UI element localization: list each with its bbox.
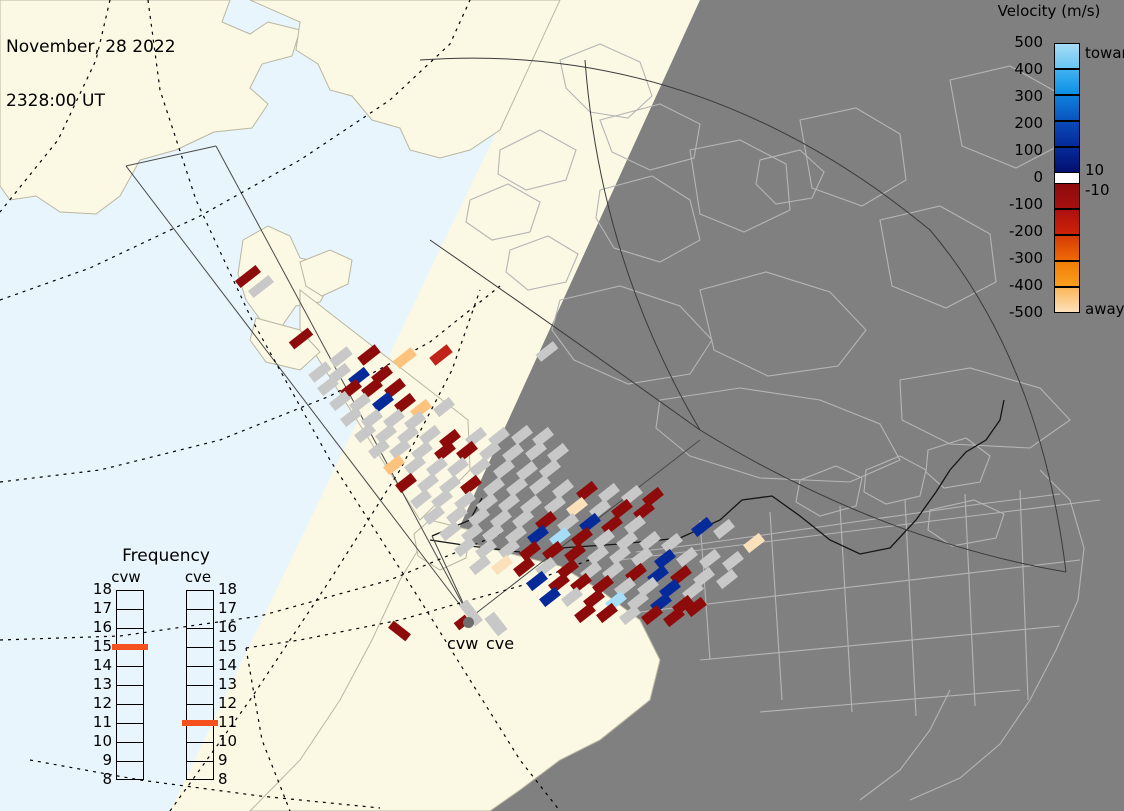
velocity-cell <box>454 491 476 511</box>
frequency-cell <box>187 648 213 667</box>
frequency-tick-cvw-17: 17 <box>88 599 112 617</box>
velocity-cell <box>557 513 579 533</box>
velocity-cell <box>439 521 461 541</box>
velocity-cell <box>388 621 411 642</box>
colorbar-tick-400: 400 <box>981 60 1043 78</box>
velocity-cell <box>691 517 713 537</box>
frequency-tick-cve-18: 18 <box>218 580 242 598</box>
frequency-cell <box>187 629 213 648</box>
colorbar-cell--500--400 <box>1054 287 1080 313</box>
velocity-cell <box>419 425 441 445</box>
velocity-cell <box>389 439 411 459</box>
frequency-tick-cve-17: 17 <box>218 599 242 617</box>
frequency-cell <box>117 724 143 743</box>
velocity-cell <box>536 341 559 362</box>
colorbar-cell-10-100 <box>1054 147 1080 173</box>
frequency-cell <box>187 762 213 781</box>
velocity-cell <box>475 539 497 559</box>
superdarn-map-figure: November, 28 2022 2328:00 UT Velocity (m… <box>0 0 1124 811</box>
frequency-tick-cve-8: 8 <box>218 770 242 788</box>
velocity-cell <box>417 473 439 493</box>
velocity-cell <box>482 523 504 543</box>
frequency-cell <box>117 762 143 781</box>
velocity-cell <box>502 443 524 463</box>
velocity-cell <box>506 477 528 497</box>
velocity-cell <box>329 346 352 367</box>
colorbar-cell-100-200 <box>1054 121 1080 147</box>
frequency-tick-cve-11: 11 <box>218 713 242 731</box>
velocity-cell <box>654 549 676 569</box>
frequency-cell <box>117 610 143 629</box>
frequency-cell <box>187 610 213 629</box>
frequency-tick-cve-13: 13 <box>218 675 242 693</box>
frequency-tick-cve-9: 9 <box>218 751 242 769</box>
colorbar-tick-500: 500 <box>981 33 1043 51</box>
velocity-cell <box>490 509 512 529</box>
velocity-cell <box>484 612 507 637</box>
velocity-cell <box>513 557 535 577</box>
frequency-title: Frequency <box>86 546 246 566</box>
colorbar-tick-200: 200 <box>981 114 1043 132</box>
frequency-marker-cvw <box>112 644 148 650</box>
frequency-cell <box>117 743 143 762</box>
colorbar-zero-gap <box>1054 173 1080 183</box>
velocity-cell <box>593 529 615 549</box>
velocity-cell <box>587 545 609 565</box>
velocity-cell <box>512 509 534 529</box>
velocity-cell <box>426 457 448 477</box>
velocity-cell <box>491 555 513 575</box>
colorbar-cell-400-500 <box>1054 43 1080 69</box>
colorbar-title: Velocity (m/s) <box>979 2 1119 20</box>
frequency-cell <box>117 686 143 705</box>
velocity-cell <box>713 519 735 539</box>
radar-site-label-cvw: cvw <box>447 634 478 653</box>
frequency-scale-box-cvw <box>116 590 144 780</box>
frequency-cell <box>117 667 143 686</box>
velocity-cell <box>676 547 698 567</box>
frequency-tick-cvw-16: 16 <box>88 618 112 636</box>
velocity-cell <box>433 397 455 417</box>
frequency-tick-cvw-12: 12 <box>88 694 112 712</box>
velocity-cell <box>375 424 397 444</box>
velocity-cell <box>395 473 417 493</box>
radar-site-label-cve: cve <box>486 634 514 653</box>
colorbar-tick-0: 0 <box>981 168 1043 186</box>
velocity-cell <box>498 493 520 513</box>
frequency-tick-cve-10: 10 <box>218 732 242 750</box>
velocity-cell <box>519 541 541 561</box>
colorbar-gradient <box>1054 43 1080 313</box>
velocity-cell <box>469 555 491 575</box>
velocity-cell <box>601 515 623 535</box>
frequency-cell <box>187 724 213 743</box>
velocity-cell <box>460 475 482 495</box>
frequency-cell <box>117 591 143 610</box>
frequency-cell <box>117 705 143 724</box>
velocity-cell <box>619 605 641 625</box>
velocity-cell <box>529 475 551 495</box>
velocity-cell <box>447 457 469 477</box>
time-label: 2328:00 UT <box>6 92 176 110</box>
velocity-cell <box>383 455 405 475</box>
colorbar-cell--200--100 <box>1054 209 1080 235</box>
velocity-cell <box>439 475 461 495</box>
frequency-tick-cvw-8: 8 <box>88 770 112 788</box>
frequency-panel: Frequency cvw cve 1817161514131211109818… <box>86 546 246 791</box>
velocity-cell <box>576 481 598 501</box>
colorbar-cell--300--200 <box>1054 235 1080 261</box>
frequency-tick-cve-14: 14 <box>218 656 242 674</box>
velocity-cell <box>511 425 533 445</box>
velocity-cell <box>539 459 561 479</box>
colorbar-cell-200-300 <box>1054 95 1080 121</box>
colorbar-tick--500: -500 <box>981 303 1043 321</box>
frequency-cell <box>187 591 213 610</box>
frequency-tick-cvw-9: 9 <box>88 751 112 769</box>
velocity-cell <box>423 505 445 525</box>
velocity-cell <box>476 493 498 513</box>
velocity-cell <box>699 549 721 569</box>
velocity-cell <box>368 439 390 459</box>
frequency-tick-cvw-14: 14 <box>88 656 112 674</box>
velocity-cell <box>469 457 491 477</box>
colorbar-cell-300-400 <box>1054 69 1080 95</box>
colorbar-tick--400: -400 <box>981 276 1043 294</box>
frequency-tick-cve-16: 16 <box>218 618 242 636</box>
velocity-colorbar-panel: Velocity (m/s) 5004003002001000-100-200-… <box>975 0 1124 340</box>
frequency-marker-cve <box>182 720 218 726</box>
velocity-cell <box>544 495 566 515</box>
frequency-cell <box>187 686 213 705</box>
velocity-cell <box>547 443 569 463</box>
colorbar-tick-300: 300 <box>981 87 1043 105</box>
radar-site-marker <box>463 617 474 628</box>
frequency-scale-box-cve <box>186 590 214 780</box>
velocity-cell <box>429 344 452 365</box>
velocity-cell <box>566 497 588 517</box>
colorbar-cell--400--300 <box>1054 261 1080 287</box>
velocity-cell <box>446 505 468 525</box>
colorbar-tick--100: -100 <box>981 195 1043 213</box>
colorbar-negative-threshold-label: -10 <box>1085 181 1110 199</box>
velocity-cell <box>483 477 505 497</box>
velocity-cell <box>431 489 453 509</box>
velocity-cell <box>639 531 661 551</box>
velocity-cell <box>289 328 313 350</box>
velocity-cell <box>520 495 542 515</box>
velocity-cell <box>631 547 653 567</box>
velocity-cell <box>716 569 738 589</box>
colorbar-tick--200: -200 <box>981 222 1043 240</box>
velocity-cell <box>516 461 538 481</box>
frequency-tick-cvw-13: 13 <box>88 675 112 693</box>
velocity-cell <box>410 489 432 509</box>
velocity-cell <box>598 483 620 503</box>
frequency-cell <box>187 667 213 686</box>
velocity-cell <box>393 347 416 368</box>
velocity-cell <box>743 533 765 553</box>
colorbar-positive-threshold-label: 10 <box>1085 161 1104 179</box>
velocity-cell <box>468 507 490 527</box>
frequency-cell <box>117 648 143 667</box>
colorbar-toward-label: toward <box>1085 44 1124 62</box>
frequency-tick-cvw-18: 18 <box>88 580 112 598</box>
velocity-cell <box>722 551 744 571</box>
colorbar-tick--300: -300 <box>981 249 1043 267</box>
frequency-tick-cve-15: 15 <box>218 637 242 655</box>
velocity-cell <box>571 527 593 547</box>
velocity-cell <box>357 344 380 365</box>
velocity-cell <box>527 525 549 545</box>
velocity-cell <box>564 543 586 563</box>
frequency-cell <box>187 743 213 762</box>
date-label: November, 28 2022 <box>6 38 176 56</box>
colorbar-away-label: away <box>1085 300 1124 318</box>
timestamp-block: November, 28 2022 2328:00 UT <box>6 2 176 146</box>
frequency-tick-cve-12: 12 <box>218 694 242 712</box>
velocity-cell <box>661 533 683 553</box>
velocity-cell <box>493 459 515 479</box>
colorbar-cell--100--10 <box>1054 183 1080 209</box>
frequency-tick-cvw-11: 11 <box>88 713 112 731</box>
velocity-cell <box>535 511 557 531</box>
frequency-tick-cvw-15: 15 <box>88 637 112 655</box>
frequency-tick-cvw-10: 10 <box>88 732 112 750</box>
colorbar-tick-100: 100 <box>981 141 1043 159</box>
velocity-cell <box>552 479 574 499</box>
